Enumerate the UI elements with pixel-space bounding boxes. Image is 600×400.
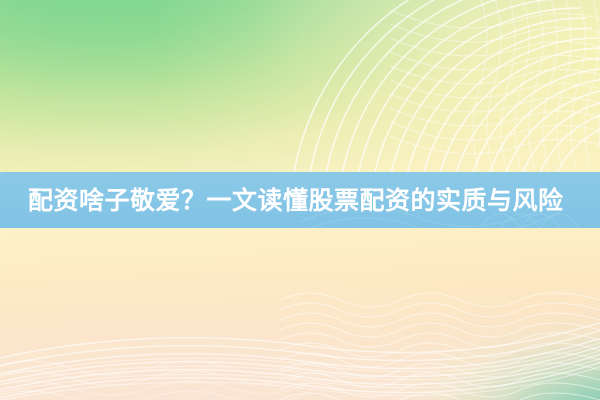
article-cover-banner: 配资啥子敬爱？一文读懂股票配资的实质与风险 xyxy=(0,0,600,400)
page-title: 配资啥子敬爱？一文读懂股票配资的实质与风险 xyxy=(0,188,564,213)
title-band: 配资啥子敬爱？一文读懂股票配资的实质与风险 xyxy=(0,172,600,228)
